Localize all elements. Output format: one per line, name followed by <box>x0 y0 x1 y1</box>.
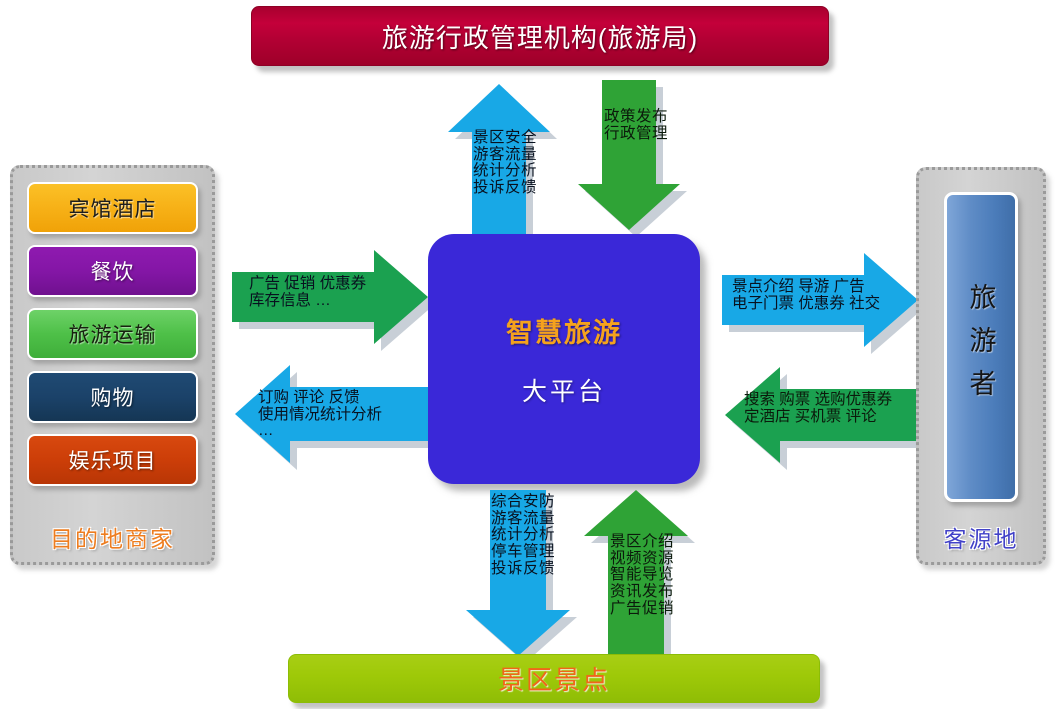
flow-arrow-up-to-gov-label: 景区安全 游客流量 统计分析 投诉反馈 <box>473 130 537 197</box>
source-market-panel-label: 客源地 <box>919 520 1043 554</box>
merchant-item-catering[interactable]: 餐饮 <box>27 245 198 297</box>
smart-tourism-platform[interactable]: 智慧旅游 大平台 <box>428 234 700 484</box>
tourist-actor-label: 旅游者 <box>962 283 1001 412</box>
flow-arrow-platform-to-tourist-label: 景点介绍 导游 广告 电子门票 优惠券 社交 <box>732 279 880 312</box>
platform-title-line1: 智慧旅游 <box>506 311 622 350</box>
flow-arrow-tourist-to-platform[interactable]: 搜索 购票 选购优惠券 定酒店 买机票 评论 <box>722 365 922 470</box>
merchant-item-transport-label: 旅游运输 <box>69 319 157 349</box>
flow-arrow-merchant-to-platform-label: 广告 促销 优惠券 库存信息 … <box>249 276 366 309</box>
flow-arrow-platform-to-merchant[interactable]: 订购 评论 反馈 使用情况统计分析 … <box>232 362 432 472</box>
scenic-spot-banner[interactable]: 景区景点 <box>288 654 820 703</box>
flow-arrow-down-to-scenic-label: 综合安防 游客流量 统计分析 停车管理 投诉反馈 <box>491 494 555 578</box>
tourist-actor-box[interactable]: 旅游者 <box>944 192 1018 502</box>
gov-authority-banner[interactable]: 旅游行政管理机构(旅游局) <box>251 6 829 66</box>
diagram-canvas: 旅游行政管理机构(旅游局) 景区安全 游客流量 统计分析 投诉反馈 政策发布 行… <box>0 0 1055 709</box>
merchant-item-hotel-label: 宾馆酒店 <box>69 193 157 223</box>
merchant-item-transport[interactable]: 旅游运输 <box>27 308 198 360</box>
merchant-item-shopping[interactable]: 购物 <box>27 371 198 423</box>
merchant-item-hotel[interactable]: 宾馆酒店 <box>27 182 198 234</box>
flow-arrow-platform-to-merchant-label: 订购 评论 反馈 使用情况统计分析 … <box>258 390 382 440</box>
destination-merchant-panel: 宾馆酒店 餐饮 旅游运输 购物 娱乐项目 目的地商家 <box>10 165 215 565</box>
flow-arrow-up-from-scenic-label: 景区介绍 视频资源 智能导览 资讯发布 广告促销 <box>610 534 674 618</box>
flow-arrow-platform-to-tourist[interactable]: 景点介绍 导游 广告 电子门票 优惠券 社交 <box>722 253 922 348</box>
flow-arrow-up-from-scenic[interactable]: 景区介绍 视频资源 智能导览 资讯发布 广告促销 <box>576 488 696 658</box>
gov-authority-label: 旅游行政管理机构(旅游局) <box>382 18 698 55</box>
flow-arrow-tourist-to-platform-label: 搜索 购票 选购优惠券 定酒店 买机票 评论 <box>744 392 892 425</box>
platform-title-line2: 大平台 <box>522 372 606 408</box>
source-market-panel: 旅游者 客源地 <box>916 167 1046 565</box>
flow-arrow-down-from-gov[interactable]: 政策发布 行政管理 <box>570 80 688 232</box>
merchant-item-catering-label: 餐饮 <box>91 256 135 286</box>
flow-arrow-up-to-gov[interactable]: 景区安全 游客流量 统计分析 投诉反馈 <box>440 82 558 234</box>
arrow-down-icon <box>570 80 688 232</box>
flow-arrow-merchant-to-platform[interactable]: 广告 促销 优惠券 库存信息 … <box>232 250 432 345</box>
merchant-item-shopping-label: 购物 <box>91 382 135 412</box>
merchant-item-entertainment-label: 娱乐项目 <box>69 445 157 475</box>
flow-arrow-down-from-gov-label: 政策发布 行政管理 <box>604 109 668 142</box>
scenic-spot-label: 景区景点 <box>498 660 610 697</box>
destination-merchant-panel-label: 目的地商家 <box>13 520 212 554</box>
flow-arrow-down-to-scenic[interactable]: 综合安防 游客流量 统计分析 停车管理 投诉反馈 <box>458 490 578 658</box>
merchant-item-entertainment[interactable]: 娱乐项目 <box>27 434 198 486</box>
